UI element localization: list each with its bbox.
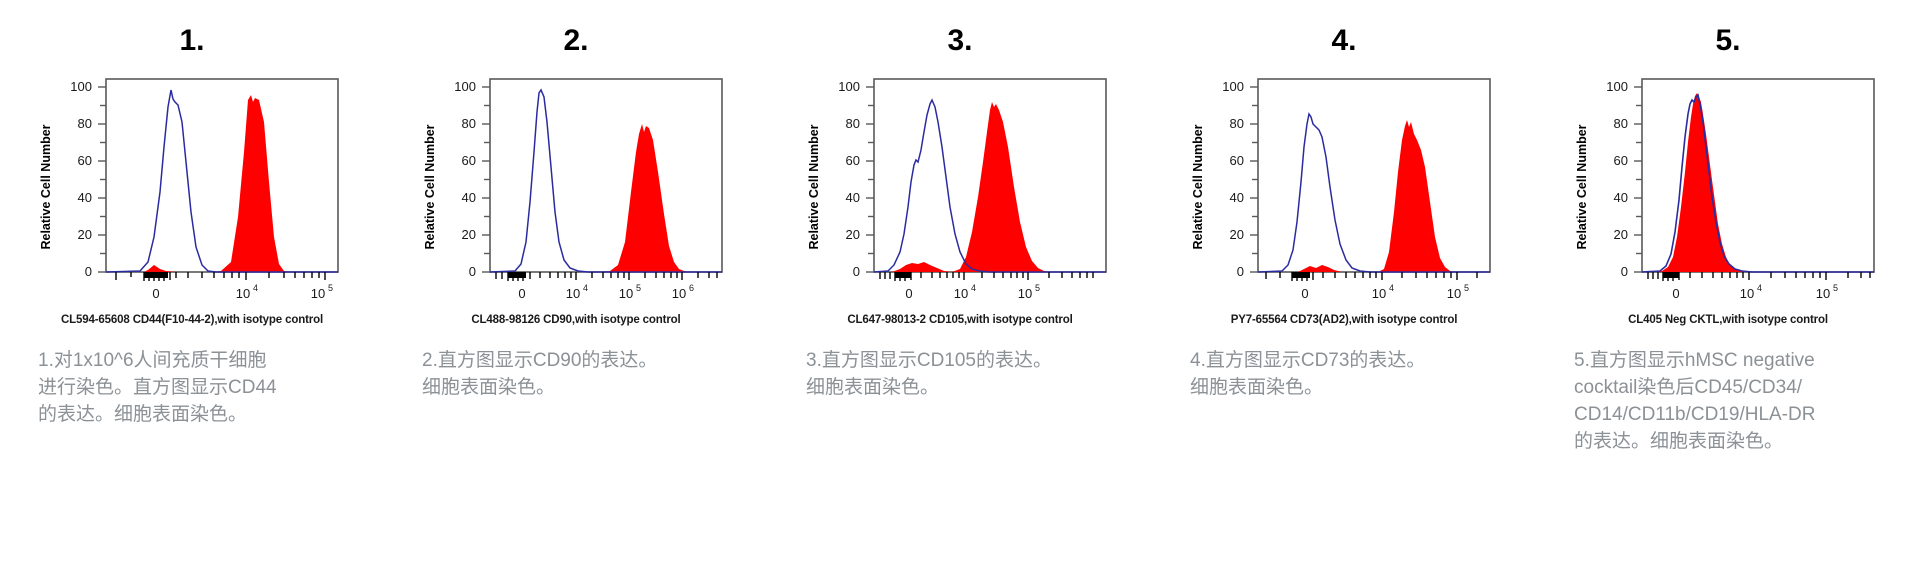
ytick-100: 100 xyxy=(838,79,860,94)
ytick-60: 60 xyxy=(1614,153,1628,168)
panel-1-xaxis-title: CL594-65608 CD44(F10-44-2),with isotype … xyxy=(61,314,323,326)
panel-1-tick-cluster xyxy=(144,272,168,278)
panel-3-tick-cluster xyxy=(895,272,911,278)
panel-1-plot: Relative Cell Number 100 80 60 40 20 0 xyxy=(36,62,348,312)
panel-3-number: 3. xyxy=(947,26,972,56)
xtick-1e4: 10 xyxy=(954,286,968,301)
ytick-40: 40 xyxy=(846,190,860,205)
panel-4-xaxis-title: PY7-65564 CD73(AD2),with isotype control xyxy=(1231,314,1458,326)
panel-5-xaxis-title: CL405 Neg CKTL,with isotype control xyxy=(1628,314,1828,326)
xtick-1e4: 10 xyxy=(566,286,580,301)
xtick-1e5: 10 xyxy=(619,286,633,301)
y-axis-label: Relative Cell Number xyxy=(807,124,821,249)
ytick-80: 80 xyxy=(846,116,860,131)
ytick-20: 20 xyxy=(846,227,860,242)
panel-5-histogram-svg: Relative Cell Number 100 80 60 40 20 0 xyxy=(1572,62,1884,312)
panel-1-ytick-marks xyxy=(98,87,106,272)
panel-2-xtick-labels: 0 10 4 10 5 10 6 xyxy=(518,283,694,301)
y-axis-label: Relative Cell Number xyxy=(39,124,53,249)
xtick-1e6-exponent: 6 xyxy=(689,283,694,293)
panel-4-plot: Relative Cell Number 100 80 60 40 20 0 xyxy=(1188,62,1500,312)
ytick-80: 80 xyxy=(1230,116,1244,131)
xtick-1e4-exponent: 4 xyxy=(1389,283,1394,293)
panel-1-number: 1. xyxy=(179,26,204,56)
y-axis-label: Relative Cell Number xyxy=(1575,124,1589,249)
ytick-80: 80 xyxy=(78,116,92,131)
panel-5-ytick-labels: 100 80 60 40 20 0 xyxy=(1606,79,1628,279)
y-axis-label: Relative Cell Number xyxy=(423,124,437,249)
panel-4-ytick-labels: 100 80 60 40 20 0 xyxy=(1222,79,1244,279)
ytick-40: 40 xyxy=(78,190,92,205)
panel-4-tick-cluster xyxy=(1292,272,1310,278)
panel-5-number: 5. xyxy=(1715,26,1740,56)
xtick-1e5-exponent: 5 xyxy=(636,283,641,293)
caption-panel-2: 2.直方图显示CD90的表达。 细胞表面染色。 xyxy=(384,348,768,402)
ytick-20: 20 xyxy=(462,227,476,242)
xtick-1e5: 10 xyxy=(311,286,325,301)
panel-4-ytick-marks xyxy=(1250,87,1258,272)
ytick-80: 80 xyxy=(1614,116,1628,131)
ytick-60: 60 xyxy=(846,153,860,168)
ytick-0: 0 xyxy=(853,264,860,279)
ytick-20: 20 xyxy=(1614,227,1628,242)
xtick-1e5: 10 xyxy=(1816,286,1830,301)
panel-3-xaxis-title: CL647-98013-2 CD105,with isotype control xyxy=(847,314,1072,326)
y-axis-label: Relative Cell Number xyxy=(1191,124,1205,249)
panel-4-xtick-labels: 0 10 4 10 5 xyxy=(1301,283,1469,301)
flow-cytometry-figure: 1. Relative Cell Number 100 80 60 40 20 … xyxy=(0,0,1920,568)
xtick-1e5: 10 xyxy=(1018,286,1032,301)
panel-3: 3. Relative Cell Number 100 80 60 40 20 … xyxy=(768,0,1152,326)
ytick-20: 20 xyxy=(1230,227,1244,242)
panel-1: 1. Relative Cell Number 100 80 60 40 20 … xyxy=(0,0,384,326)
panel-5-ytick-marks xyxy=(1634,87,1642,272)
caption-panel-5: 5.直方图显示hMSC negative cocktail染色后CD45/CD3… xyxy=(1536,348,1920,456)
xtick-0: 0 xyxy=(152,286,159,301)
panel-4-isotype-line xyxy=(1258,114,1490,272)
ytick-100: 100 xyxy=(70,79,92,94)
ytick-0: 0 xyxy=(1237,264,1244,279)
panel-2-xaxis-title: CL488-98126 CD90,with isotype control xyxy=(471,314,680,326)
ytick-80: 80 xyxy=(462,116,476,131)
ytick-100: 100 xyxy=(454,79,476,94)
ytick-0: 0 xyxy=(1621,264,1628,279)
panel-1-plot-frame xyxy=(106,79,338,272)
xtick-1e5-exponent: 5 xyxy=(1035,283,1040,293)
xtick-1e5-exponent: 5 xyxy=(1464,283,1469,293)
panel-2-histogram-svg: Relative Cell Number 100 80 60 40 20 0 xyxy=(420,62,732,312)
xtick-1e4: 10 xyxy=(1372,286,1386,301)
ytick-100: 100 xyxy=(1606,79,1628,94)
caption-panel-1: 1.对1x10^6人间充质干细胞 进行染色。直方图显示CD44 的表达。细胞表面… xyxy=(0,348,384,429)
caption-panel-3: 3.直方图显示CD105的表达。 细胞表面染色。 xyxy=(768,348,1152,402)
panel-1-ytick-labels: 100 80 60 40 20 0 xyxy=(70,79,92,279)
xtick-0: 0 xyxy=(1301,286,1308,301)
panel-4-number: 4. xyxy=(1331,26,1356,56)
xtick-1e4-exponent: 4 xyxy=(583,283,588,293)
panel-3-ytick-marks xyxy=(866,87,874,272)
xtick-0: 0 xyxy=(1672,286,1679,301)
panel-1-yaxis-title: Relative Cell Number xyxy=(39,124,53,249)
xtick-1e4-exponent: 4 xyxy=(971,283,976,293)
captions-row: 1.对1x10^6人间充质干细胞 进行染色。直方图显示CD44 的表达。细胞表面… xyxy=(0,348,1920,456)
panel-5-xtick-marks xyxy=(1648,272,1870,281)
ytick-100: 100 xyxy=(1222,79,1244,94)
xtick-1e5-exponent: 5 xyxy=(328,283,333,293)
panel-5-sample-area xyxy=(1642,93,1874,272)
panel-1-isotype-line xyxy=(106,90,338,272)
caption-panel-4: 4.直方图显示CD73的表达。 细胞表面染色。 xyxy=(1152,348,1536,402)
xtick-1e4-exponent: 4 xyxy=(1757,283,1762,293)
ytick-20: 20 xyxy=(78,227,92,242)
xtick-1e6: 10 xyxy=(672,286,686,301)
panel-5-xtick-labels: 0 10 4 10 5 xyxy=(1672,283,1838,301)
ytick-40: 40 xyxy=(1614,190,1628,205)
panel-5-plot: Relative Cell Number 100 80 60 40 20 0 xyxy=(1572,62,1884,312)
panel-2-xtick-marks xyxy=(496,272,717,281)
panel-1-sample-area xyxy=(106,95,338,272)
panel-3-ytick-labels: 100 80 60 40 20 0 xyxy=(838,79,860,279)
panels-row: 1. Relative Cell Number 100 80 60 40 20 … xyxy=(0,0,1920,326)
panel-2-tick-cluster xyxy=(508,272,526,278)
panel-4: 4. Relative Cell Number 100 80 60 40 20 … xyxy=(1152,0,1536,326)
panel-2-ytick-labels: 100 80 60 40 20 0 xyxy=(454,79,476,279)
panel-2-number: 2. xyxy=(563,26,588,56)
ytick-40: 40 xyxy=(462,190,476,205)
ytick-60: 60 xyxy=(78,153,92,168)
panel-3-histogram-svg: Relative Cell Number 100 80 60 40 20 0 xyxy=(804,62,1116,312)
ytick-0: 0 xyxy=(469,264,476,279)
ytick-40: 40 xyxy=(1230,190,1244,205)
panel-2-isotype-line xyxy=(490,90,722,272)
panel-4-plot-frame xyxy=(1258,79,1490,272)
ytick-0: 0 xyxy=(85,264,92,279)
panel-3-xtick-marks xyxy=(880,272,1093,281)
xtick-1e4: 10 xyxy=(236,286,250,301)
panel-2-plot-frame xyxy=(490,79,722,272)
panel-5-tick-cluster xyxy=(1663,272,1679,278)
panel-2-plot: Relative Cell Number 100 80 60 40 20 0 xyxy=(420,62,732,312)
xtick-1e5: 10 xyxy=(1447,286,1461,301)
panel-4-histogram-svg: Relative Cell Number 100 80 60 40 20 0 xyxy=(1188,62,1500,312)
xtick-1e4-exponent: 4 xyxy=(253,283,258,293)
xtick-0: 0 xyxy=(518,286,525,301)
ytick-60: 60 xyxy=(1230,153,1244,168)
xtick-1e4: 10 xyxy=(1740,286,1754,301)
panel-3-sample-area xyxy=(874,102,1106,272)
panel-2: 2. Relative Cell Number 100 80 60 40 20 … xyxy=(384,0,768,326)
ytick-60: 60 xyxy=(462,153,476,168)
xtick-0: 0 xyxy=(905,286,912,301)
panel-3-plot: Relative Cell Number 100 80 60 40 20 0 xyxy=(804,62,1116,312)
xtick-1e5-exponent: 5 xyxy=(1833,283,1838,293)
panel-1-xtick-labels: 0 10 4 10 5 xyxy=(152,283,333,301)
panel-5: 5. Relative Cell Number 100 80 60 40 20 … xyxy=(1536,0,1920,326)
panel-2-ytick-marks xyxy=(482,87,490,272)
panel-1-histogram-svg: Relative Cell Number 100 80 60 40 20 0 xyxy=(36,62,348,312)
panel-3-xtick-labels: 0 10 4 10 5 xyxy=(905,283,1040,301)
